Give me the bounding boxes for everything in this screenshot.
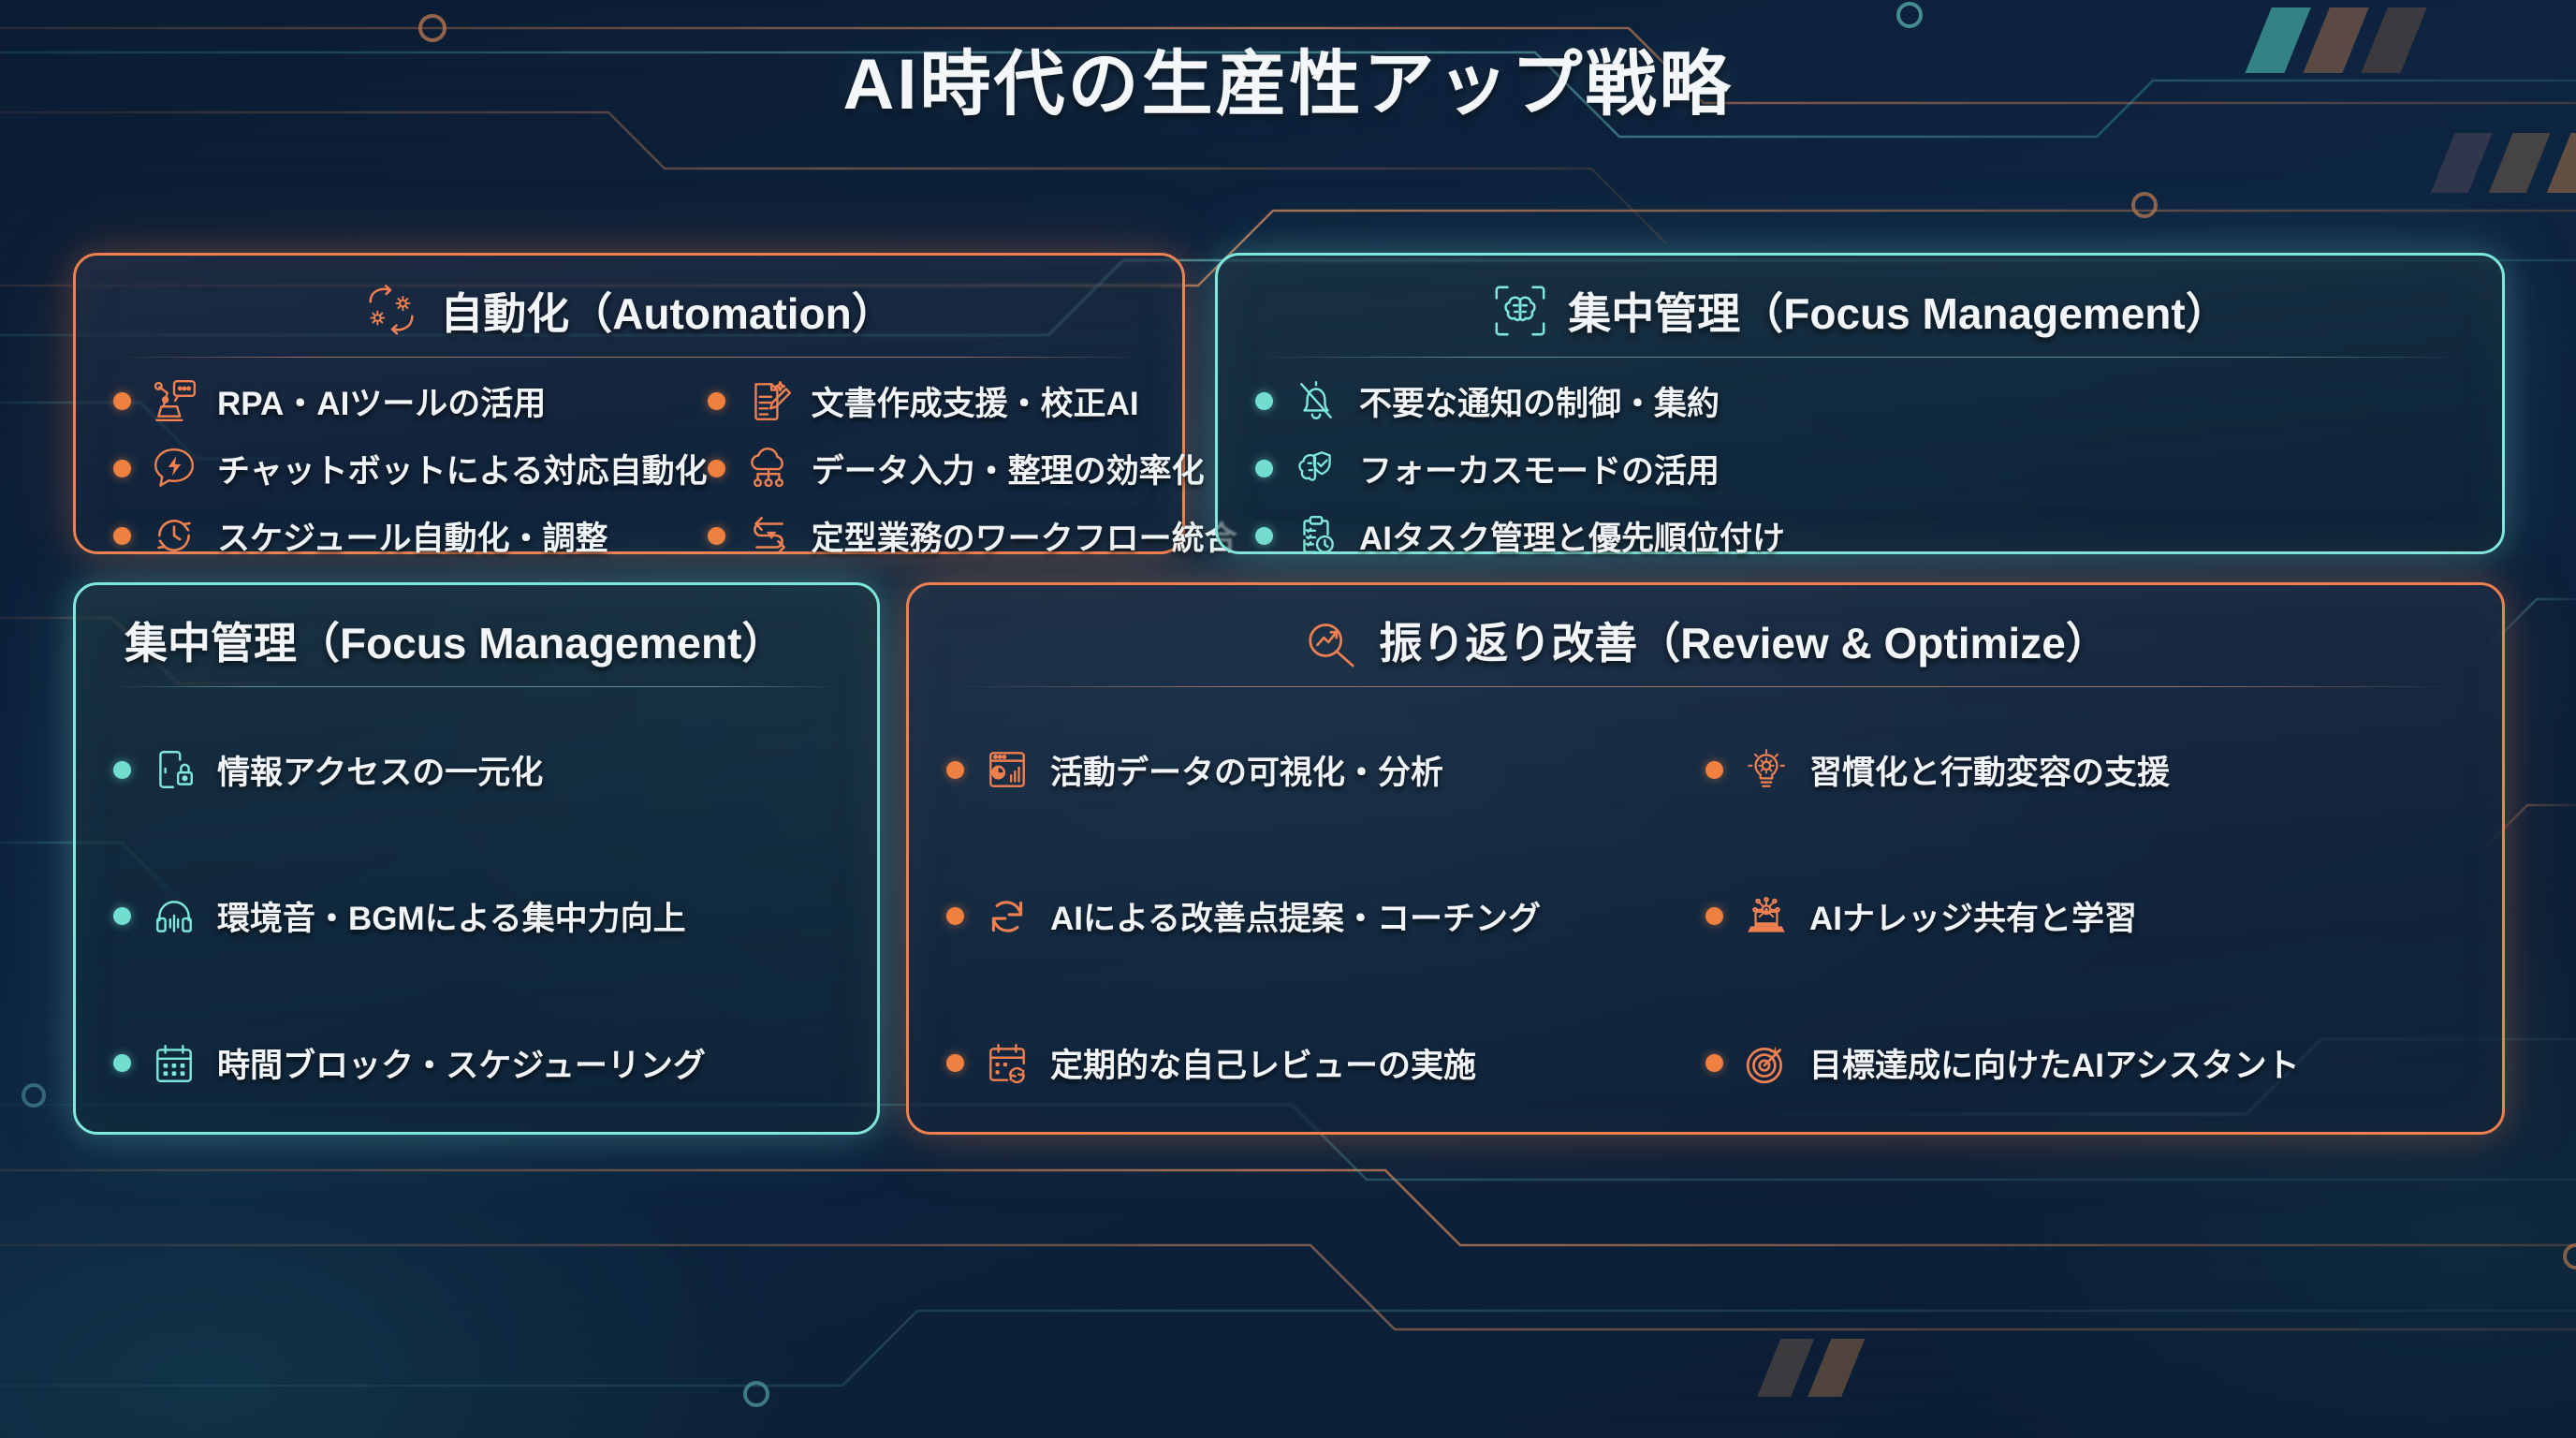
card-review-divider: [946, 686, 2465, 687]
list-item-label: 情報アクセスの一元化: [217, 746, 543, 794]
clipboard-clock-icon: [1290, 509, 1342, 562]
bell-off-icon: [1290, 374, 1342, 427]
list-item-label: RPA・AIツールの活用: [217, 377, 546, 425]
card-automation-divider: [113, 357, 1145, 358]
chatbot-bolt-icon: [148, 442, 200, 494]
list-item[interactable]: 習慣化と行動変容の支援: [1705, 740, 2465, 800]
list-item[interactable]: 定期的な自己レビューの実施: [946, 1034, 1705, 1093]
bullet-dot: [708, 392, 725, 410]
card-focus-bottom-column-1: 情報アクセスの一元化 環境音・BGMによる集中力向上: [113, 697, 840, 1137]
dashboard-analytics-icon: [981, 743, 1033, 796]
brain-scan-icon: [1491, 282, 1549, 340]
card-automation-header: 自動化（Automation）: [113, 280, 1145, 357]
card-focus-bottom-header: 集中管理（Focus Management）: [113, 609, 840, 686]
card-automation-column-2: 文書作成支援・校正AI データ入力・整理の効率化: [708, 367, 1237, 569]
list-item[interactable]: AIナレッジ共有と学習: [1705, 887, 2465, 946]
list-item[interactable]: 活動データの可視化・分析: [946, 740, 1705, 800]
page-title: AI時代の生産性アップ戦略: [0, 26, 2576, 129]
brain-shield-icon: [1290, 442, 1342, 494]
bullet-dot: [1255, 392, 1273, 410]
card-review-title: 振り返り改善（Review & Optimize）: [1379, 609, 2109, 671]
card-automation[interactable]: 自動化（Automation） RPA・AIツールの活用: [73, 253, 1185, 554]
list-item[interactable]: 情報アクセスの一元化: [113, 740, 840, 800]
document-magic-icon: [742, 374, 795, 427]
calendar-refresh-icon: [981, 1037, 1033, 1090]
card-review-header: 振り返り改善（Review & Optimize）: [946, 609, 2465, 686]
list-item[interactable]: 環境音・BGMによる集中力向上: [113, 887, 840, 946]
list-item-label: 時間ブロック・スケジューリング: [217, 1039, 706, 1087]
list-item[interactable]: データ入力・整理の効率化: [708, 438, 1237, 498]
list-item[interactable]: AIタスク管理と優先順位付け: [1255, 506, 2465, 565]
list-item[interactable]: チャットボットによる対応自動化: [113, 438, 708, 498]
list-item[interactable]: RPA・AIツールの活用: [113, 371, 708, 431]
list-item[interactable]: 不要な通知の制御・集約: [1255, 371, 2465, 431]
bullet-dot: [1705, 1054, 1723, 1072]
bullet-dot: [113, 907, 131, 925]
card-review-optimize[interactable]: 振り返り改善（Review & Optimize） 活動データの可視化・分析: [906, 582, 2505, 1135]
list-item[interactable]: 文書作成支援・校正AI: [708, 371, 1237, 431]
cloud-data-node-icon: [742, 442, 795, 494]
card-focus-top-header: 集中管理（Focus Management）: [1255, 280, 2465, 357]
list-item-label: 環境音・BGMによる集中力向上: [217, 892, 686, 940]
card-review-column-2: 習慣化と行動変容の支援 AIナレッジ共有と学習: [1705, 697, 2465, 1137]
target-dart-icon: [1740, 1037, 1793, 1090]
card-focus-management-top[interactable]: 集中管理（Focus Management） 不要な通知の制御・集約: [1215, 253, 2505, 554]
list-item-label: 定型業務のワークフロー統合: [812, 512, 1237, 560]
list-item-label: AIによる改善点提案・コーチング: [1050, 892, 1541, 940]
card-automation-title: 自動化（Automation）: [440, 280, 895, 342]
lightbulb-gear-icon: [1740, 743, 1793, 796]
list-item[interactable]: スケジュール自動化・調整: [113, 506, 708, 565]
bullet-dot: [946, 761, 964, 779]
list-item-label: チャットボットによる対応自動化: [217, 445, 708, 492]
list-item-label: スケジュール自動化・調整: [217, 512, 608, 560]
gears-automation-icon: [363, 282, 421, 340]
bullet-dot: [113, 460, 131, 477]
bullet-dot: [1705, 761, 1723, 779]
card-focus-bottom-title: 集中管理（Focus Management）: [124, 609, 784, 671]
headphones-wave-icon: [148, 890, 200, 943]
list-item[interactable]: 目標達成に向けたAIアシスタント: [1705, 1034, 2465, 1093]
list-item-label: 定期的な自己レビューの実施: [1050, 1039, 1476, 1087]
chart-arrow-up-icon: [1302, 611, 1360, 669]
bullet-dot: [113, 392, 131, 410]
list-item-label: 習慣化と行動変容の支援: [1809, 746, 2170, 794]
card-review-column-1: 活動データの可視化・分析 AIによる改善点提案・コーチング: [946, 697, 1705, 1137]
list-item-label: フォーカスモードの活用: [1359, 445, 1720, 492]
bullet-dot: [708, 460, 725, 477]
list-item-label: AIタスク管理と優先順位付け: [1359, 512, 1785, 560]
bullet-dot: [708, 527, 725, 545]
clock-refresh-icon: [148, 509, 200, 562]
bullet-dot: [1705, 907, 1723, 925]
card-focus-management-bottom[interactable]: 集中管理（Focus Management） 情報アクセスの一元化: [73, 582, 880, 1135]
bullet-dot: [113, 527, 131, 545]
card-focus-top-title: 集中管理（Focus Management）: [1568, 280, 2228, 342]
robot-arm-chat-icon: [148, 374, 200, 427]
bullet-dot: [1255, 527, 1273, 545]
bullet-dot: [946, 907, 964, 925]
list-item-label: 不要な通知の制御・集約: [1359, 377, 1720, 425]
bullet-dot: [1255, 460, 1273, 477]
list-item[interactable]: フォーカスモードの活用: [1255, 438, 2465, 498]
list-item-label: 活動データの可視化・分析: [1050, 746, 1443, 794]
list-item-label: 目標達成に向けたAIアシスタント: [1809, 1039, 2300, 1087]
bullet-dot: [113, 761, 131, 779]
card-focus-top-column-1: 不要な通知の制御・集約 フォーカスモードの活用: [1255, 367, 2465, 569]
list-item[interactable]: 定型業務のワークフロー統合: [708, 506, 1237, 565]
bullet-dot: [113, 1054, 131, 1072]
list-item-label: 文書作成支援・校正AI: [812, 377, 1139, 425]
list-item-label: データ入力・整理の効率化: [812, 445, 1205, 492]
refresh-cycle-icon: [981, 890, 1033, 943]
calendar-grid-icon: [148, 1037, 200, 1090]
card-focus-top-divider: [1255, 357, 2465, 358]
list-item-label: AIナレッジ共有と学習: [1809, 892, 2137, 940]
workflow-loop-icon: [742, 509, 795, 562]
bullet-dot: [946, 1054, 964, 1072]
card-automation-column-1: RPA・AIツールの活用 チャットボットによる対応自動化: [113, 367, 708, 569]
phone-lock-icon: [148, 743, 200, 796]
list-item[interactable]: AIによる改善点提案・コーチング: [946, 887, 1705, 946]
list-item[interactable]: 時間ブロック・スケジューリング: [113, 1034, 840, 1093]
laptop-ai-network-icon: [1740, 890, 1793, 943]
card-focus-bottom-divider: [113, 686, 840, 687]
